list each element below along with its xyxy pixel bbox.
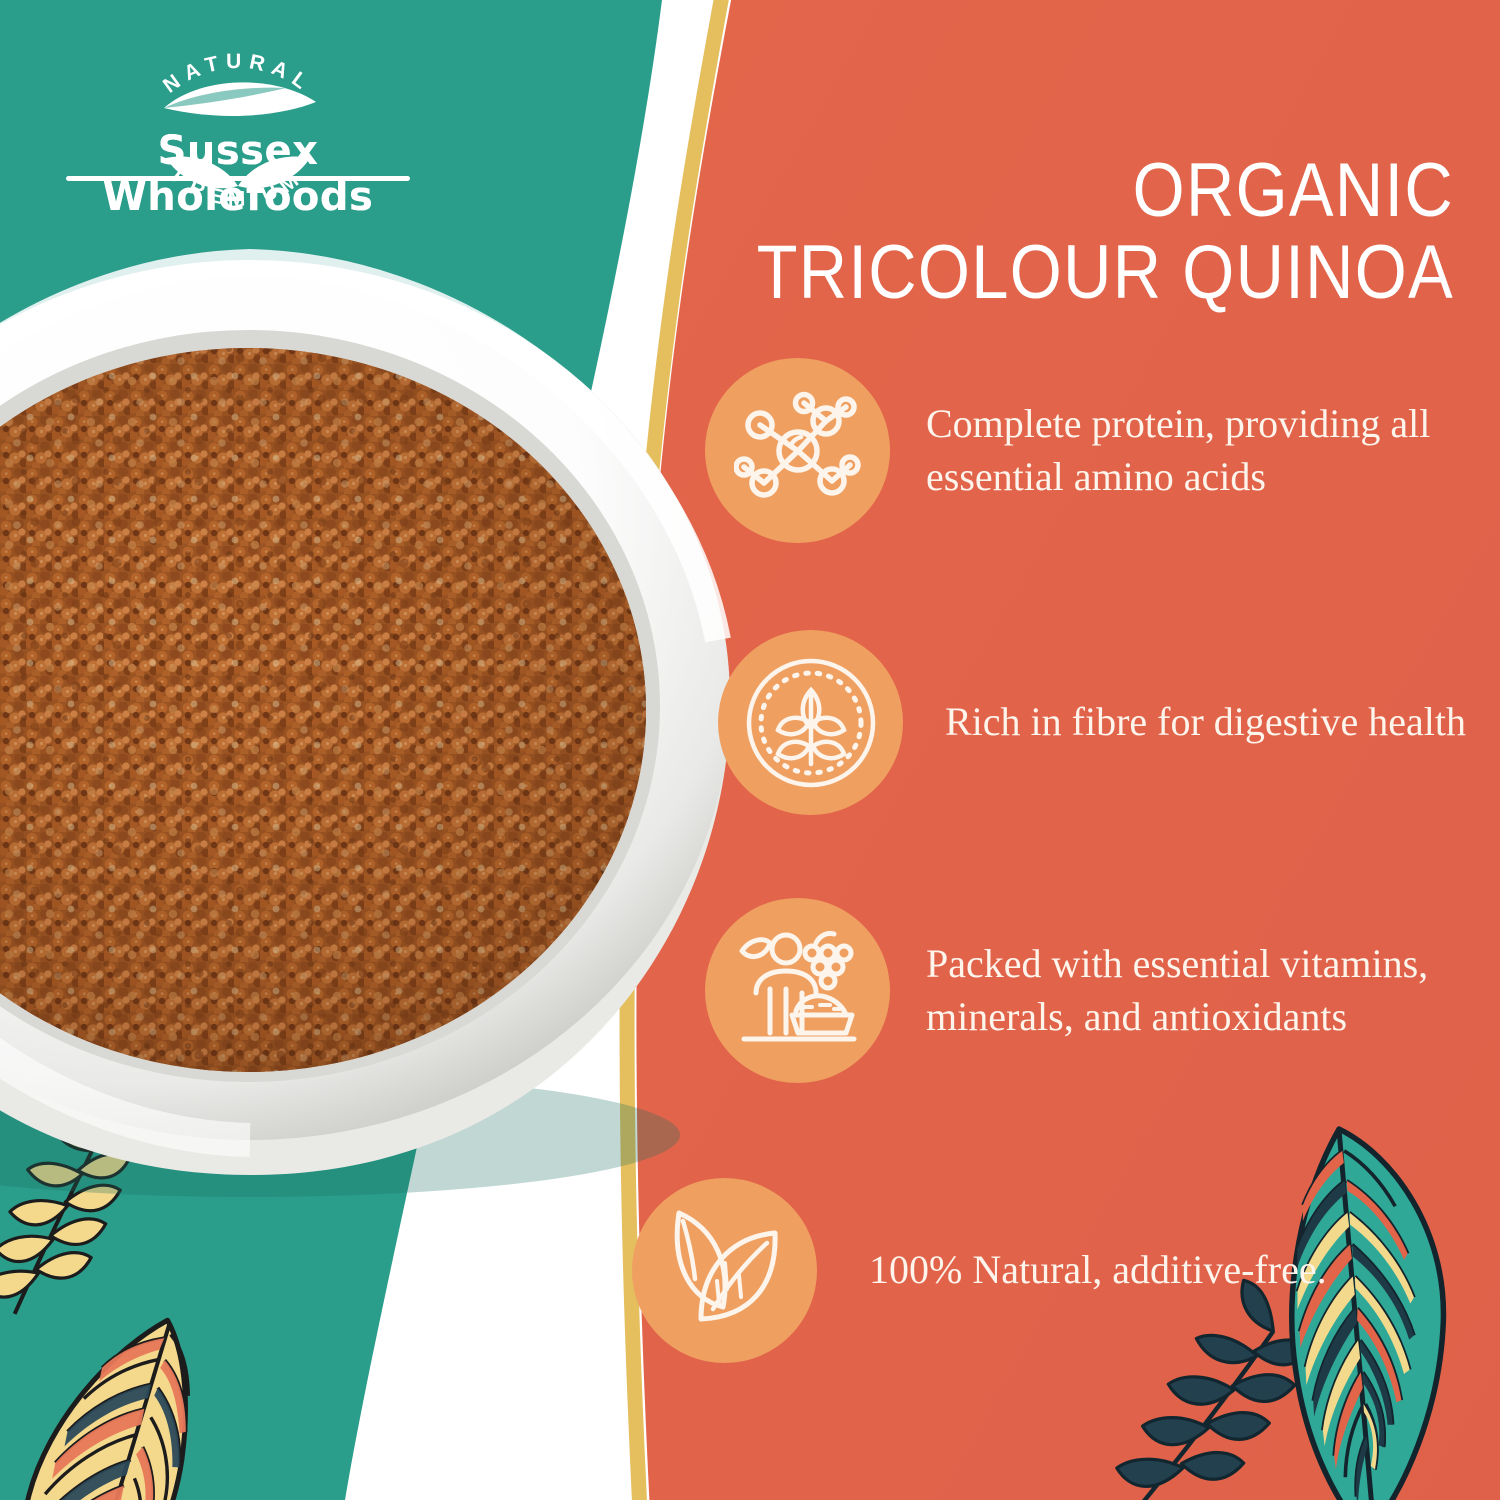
feature-text: Packed with essential vitamins, minerals…	[926, 938, 1500, 1044]
feature-item: Rich in fibre for digestive health	[718, 630, 1500, 815]
page-title: ORGANIC TRICOLOUR QUINOA	[494, 150, 1454, 314]
molecule-icon	[734, 387, 862, 515]
feature-icon-badge	[718, 630, 903, 815]
logo-underline	[66, 176, 410, 181]
feature-text: Rich in fibre for digestive health	[945, 696, 1466, 749]
grain-sprout-badge-icon	[744, 656, 878, 790]
logo-wordmark: Sussex Wholefoods	[38, 128, 438, 220]
infographic-canvas: NATURAL PREMIUM Sussex Wholefoods ORGANI…	[0, 0, 1500, 1500]
feature-text: Complete protein, providing all essentia…	[926, 398, 1500, 504]
feature-item: Complete protein, providing all essentia…	[705, 358, 1500, 543]
feature-item: 100% Natural, additive-free.	[632, 1178, 1442, 1363]
feature-icon-badge	[632, 1178, 817, 1363]
two-leaves-icon	[657, 1203, 793, 1339]
title-line-2: TRICOLOUR QUINOA	[609, 232, 1454, 314]
feature-icon-badge	[705, 898, 890, 1083]
feature-text: 100% Natural, additive-free.	[869, 1244, 1327, 1297]
brand-logo: NATURAL PREMIUM Sussex Wholefoods	[38, 30, 438, 235]
produce-stand-icon	[734, 927, 862, 1055]
feature-item: Packed with essential vitamins, minerals…	[705, 898, 1500, 1083]
title-line-1: ORGANIC	[609, 150, 1454, 232]
feature-icon-badge	[705, 358, 890, 543]
